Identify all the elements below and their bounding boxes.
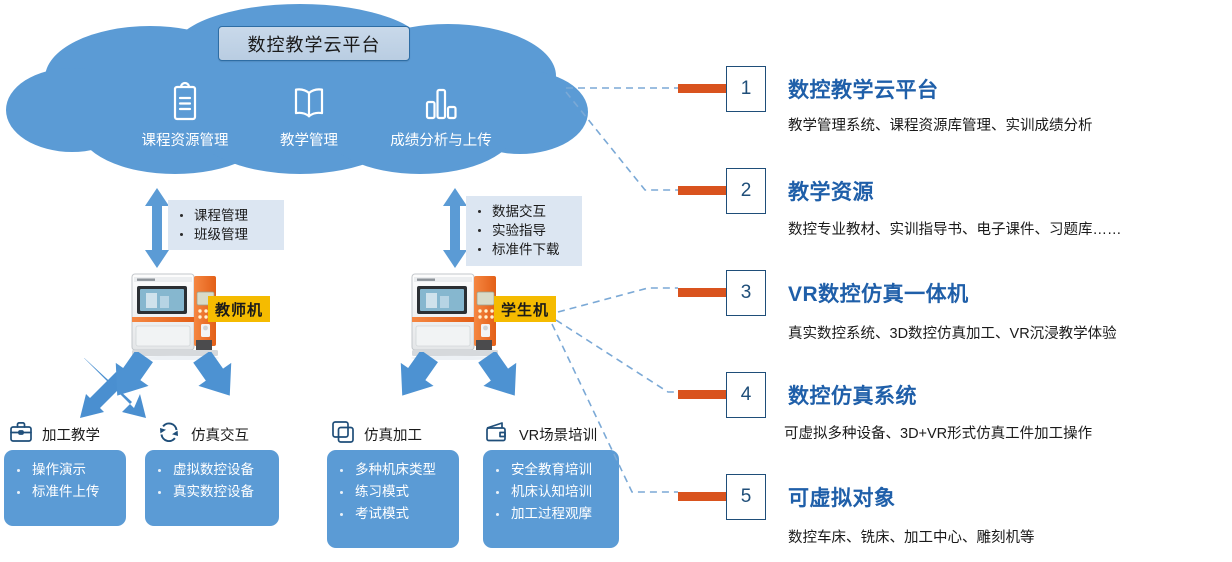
legend-number-2: 2 [726,168,766,214]
legend-title-5: 可虚拟对象 [788,482,896,512]
list-item: 操作演示 [12,459,116,481]
group-box-simulation-machining: 多种机床类型 练习模式 考试模式 [327,450,459,548]
group-bullet-list: 安全教育培训 机床认知培训 加工过程观摩 [491,459,609,525]
student-down-arrows [330,352,600,422]
list-item: 考试模式 [335,503,449,525]
group-head-processing-teaching[interactable]: 加工教学 [8,419,100,450]
legend-desc-5: 数控车床、铣床、加工中心、雕刻机等 [788,526,1035,547]
group-title: 加工教学 [42,424,100,445]
legend-bar-1 [678,84,726,93]
legend-title-2: 教学资源 [788,176,874,206]
cloud-platform-group: 数控教学云平台 课程资源管理 [0,0,600,185]
legend-bar-2 [678,186,726,195]
group-bullet-list: 操作演示 标准件上传 [12,459,116,503]
list-item: 标准件上传 [12,481,116,503]
group-box-vr-scene-training: 安全教育培训 机床认知培训 加工过程观摩 [483,450,619,548]
teacher-bullet-list: 课程管理 班级管理 [176,206,272,244]
teacher-down-arrows [45,352,315,422]
legend-desc-4: 可虚拟多种设备、3D+VR形式仿真工件加工操作 [784,422,1092,443]
open-book-icon [249,78,369,124]
cloud-feature-grade-analysis[interactable]: 成绩分析与上传 [381,78,501,150]
student-link-infobox: 数据交互 实验指导 标准件下载 [466,196,582,266]
group-title: 仿真交互 [191,424,249,445]
list-item: 实验指导 [474,221,570,240]
wallet-icon [483,419,511,450]
group-bullet-list: 虚拟数控设备 真实数控设备 [153,459,269,503]
student-machine-tag: 学生机 [494,296,556,322]
legend-bar-4 [678,390,726,399]
legend-title-4: 数控仿真系统 [788,380,917,410]
list-item: 真实数控设备 [153,481,269,503]
connector-3 [558,288,678,312]
list-item: 虚拟数控设备 [153,459,269,481]
cloud-feature-label: 成绩分析与上传 [381,129,501,150]
teacher-machine-tag: 教师机 [208,296,270,322]
legend-bar-3 [678,288,726,297]
group-head-simulation-machining[interactable]: 仿真加工 [330,419,422,450]
refresh-cycle-icon [155,419,183,450]
legend-number-3: 3 [726,270,766,316]
briefcase-icon [8,419,34,450]
list-item: 机床认知培训 [491,481,609,503]
legend-number-1: 1 [726,66,766,112]
teacher-link-infobox: 课程管理 班级管理 [168,200,284,250]
list-item: 多种机床类型 [335,459,449,481]
copy-layers-icon [330,419,356,450]
list-item: 加工过程观摩 [491,503,609,525]
clipboard-icon [125,78,245,124]
list-item: 标准件下载 [474,240,570,259]
cloud-feature-label: 课程资源管理 [125,129,245,150]
legend-desc-1: 教学管理系统、课程资源库管理、实训成绩分析 [788,114,1093,135]
legend-bar-5 [678,492,726,501]
cloud-feature-teaching-mgmt[interactable]: 教学管理 [249,78,369,150]
group-box-processing-teaching: 操作演示 标准件上传 [4,450,126,526]
list-item: 练习模式 [335,481,449,503]
group-bullet-list: 多种机床类型 练习模式 考试模式 [335,459,449,525]
bar-chart-icon [381,78,501,124]
legend-desc-2: 数控专业教材、实训指导书、电子课件、习题库…… [788,218,1122,239]
legend-title-3: VR数控仿真一体机 [788,278,969,308]
group-title: 仿真加工 [364,424,422,445]
list-item: 课程管理 [176,206,272,225]
list-item: 安全教育培训 [491,459,609,481]
cloud-title: 数控教学云平台 [218,26,410,61]
student-bullet-list: 数据交互 实验指导 标准件下载 [474,202,570,259]
legend-desc-3: 真实数控系统、3D数控仿真加工、VR沉浸教学体验 [788,322,1117,343]
list-item: 数据交互 [474,202,570,221]
group-box-simulation-interaction: 虚拟数控设备 真实数控设备 [145,450,279,526]
group-title: VR场景培训 [519,424,597,445]
legend-title-1: 数控教学云平台 [788,74,939,104]
group-head-simulation-interaction[interactable]: 仿真交互 [155,419,249,450]
group-head-vr-scene-training[interactable]: VR场景培训 [483,419,597,450]
cloud-feature-label: 教学管理 [249,129,369,150]
legend-number-4: 4 [726,372,766,418]
list-item: 班级管理 [176,225,272,244]
diagram-canvas: 数控教学云平台 课程资源管理 [0,0,1232,562]
legend-number-5: 5 [726,474,766,520]
cloud-feature-course-resource[interactable]: 课程资源管理 [125,78,245,150]
